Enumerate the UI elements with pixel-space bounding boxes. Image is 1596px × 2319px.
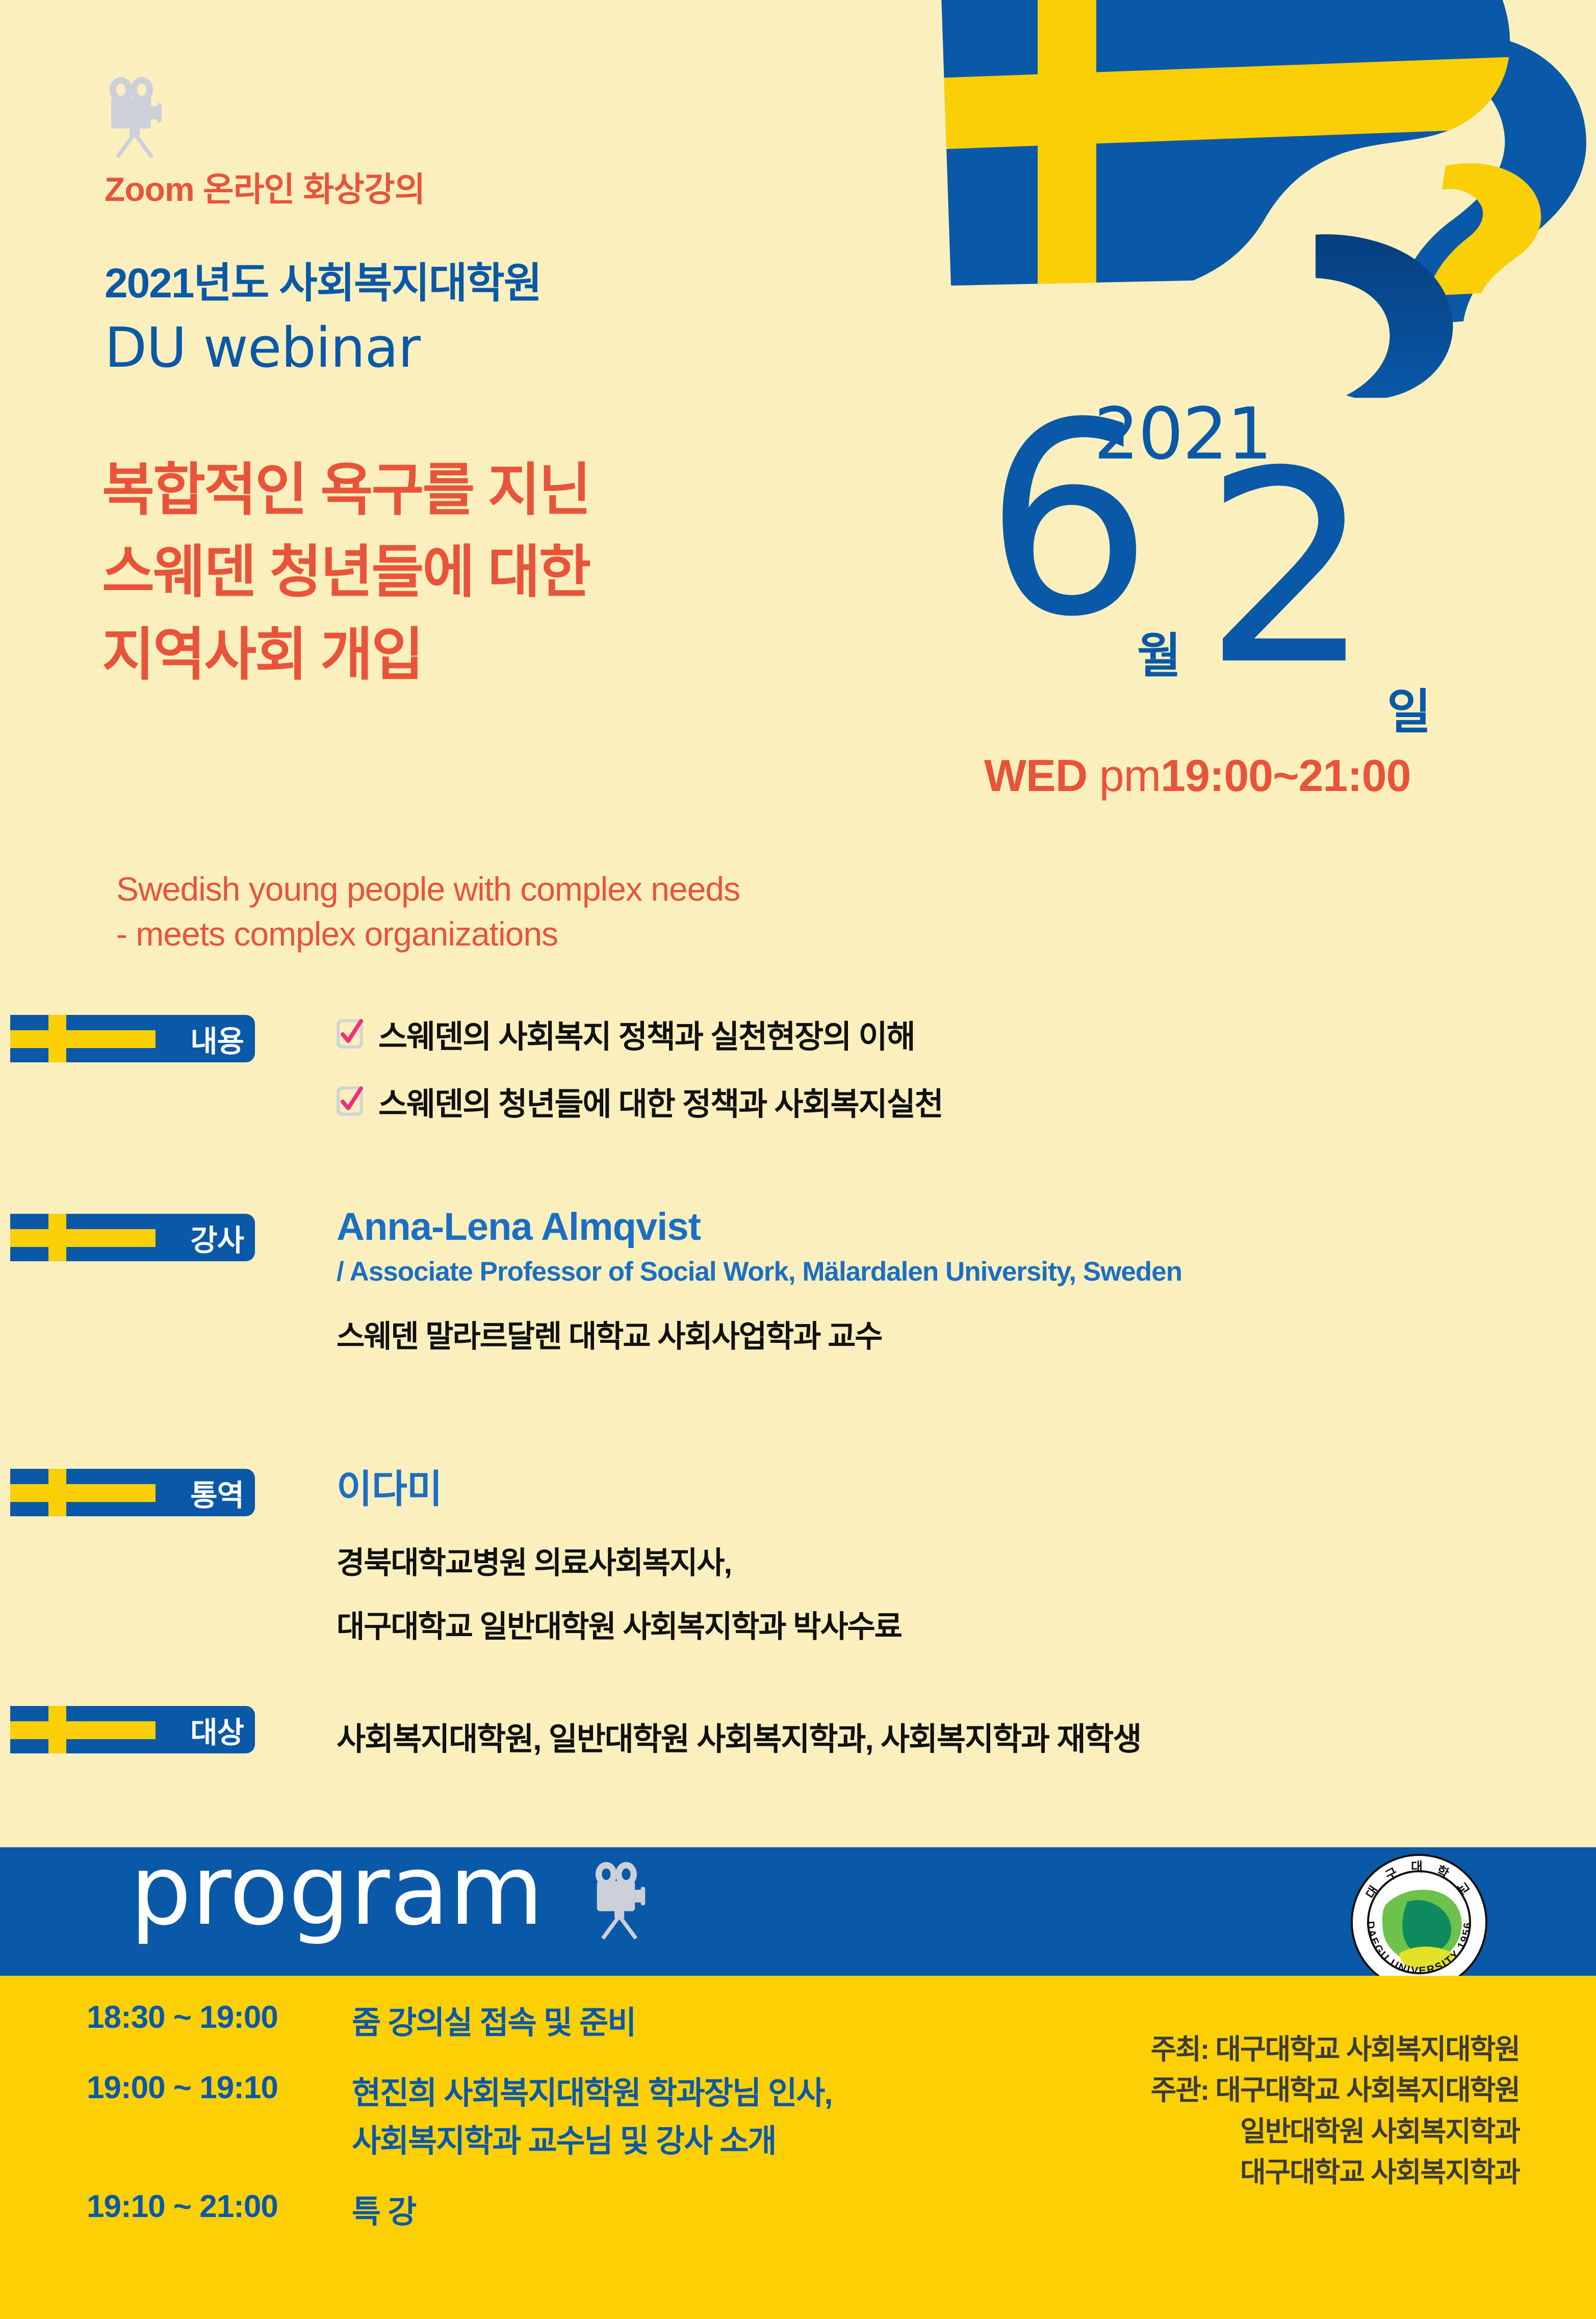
section-label: 대상 bbox=[190, 1709, 244, 1751]
event-date-block: 6 2021 월 2 일 WED pm19:00~21:00 bbox=[984, 393, 1576, 821]
list-item-label: 스웨덴의 사회복지 정책과 실천현장의 이해 bbox=[378, 1011, 915, 1057]
movie-camera-icon bbox=[108, 77, 164, 158]
section-label: 내용 bbox=[190, 1017, 244, 1060]
table-row: 19:10 ~ 21:00 특 강 bbox=[87, 2188, 1056, 2236]
schedule-time: 19:00 ~ 19:10 bbox=[87, 2070, 352, 2106]
date-weekday: WED bbox=[984, 750, 1087, 801]
date-time-line: WED pm19:00~21:00 bbox=[984, 750, 1576, 802]
date-time-prefix: pm bbox=[1099, 750, 1161, 801]
title-line-1: 복합적인 욕구를 지닌 bbox=[102, 449, 928, 531]
schedule-description-line: 현진희 사회복지대학원 학과장님 인사, bbox=[352, 2070, 832, 2118]
host-line: 일반대학원 사회복지학과 bbox=[1010, 2111, 1520, 2152]
host-line: 주최: 대구대학교 사회복지대학원 bbox=[1010, 2029, 1520, 2070]
badge-flag-stripe-horizontal bbox=[10, 1484, 156, 1502]
schedule-description-line: 사회복지학과 교수님 및 강사 소개 bbox=[352, 2118, 832, 2165]
flag-ribbon-yellow bbox=[1427, 163, 1541, 296]
section-badge-speaker: 강사 bbox=[10, 1214, 255, 1261]
schedule-description: 줌 강의실 접속 및 준비 bbox=[352, 1999, 635, 2047]
table-row: 18:30 ~ 19:00 줌 강의실 접속 및 준비 bbox=[87, 1999, 1056, 2047]
date-time-range: 19:00~21:00 bbox=[1161, 750, 1411, 801]
speaker-affiliation: / Associate Professor of Social Work, Mä… bbox=[337, 1256, 1182, 1287]
audience-text: 사회복지대학원, 일반대학원 사회복지학과, 사회복지학과 재학생 bbox=[337, 1713, 1141, 1759]
date-month-unit: 월 bbox=[1137, 617, 1181, 686]
date-day-unit: 일 bbox=[1387, 673, 1431, 743]
title-line-2: 스웨덴 청년들에 대한 bbox=[102, 531, 928, 613]
section-badge-interpreter: 통역 bbox=[10, 1469, 255, 1516]
page-title: 복합적인 욕구를 지닌 스웨덴 청년들에 대한 지역사회 개입 bbox=[102, 449, 928, 696]
poster-root: Zoom 온라인 화상강의 2021년도 사회복지대학원 DU webinar … bbox=[0, 0, 1596, 2319]
subtitle-line-2: - meets complex organizations bbox=[116, 912, 1034, 957]
interpreter-name: 이다미 bbox=[337, 1458, 902, 1514]
flag-ribbon-back bbox=[1392, 36, 1586, 326]
schedule-description-line: 특 강 bbox=[352, 2188, 416, 2236]
brand-title: DU webinar bbox=[105, 316, 420, 380]
schedule-description: 현진희 사회복지대학원 학과장님 인사, 사회복지학과 교수님 및 강사 소개 bbox=[352, 2070, 832, 2165]
program-heading: program bbox=[130, 1842, 544, 1939]
checkbox-checked-icon bbox=[337, 1019, 363, 1049]
section-badge-content: 내용 bbox=[10, 1015, 255, 1062]
movie-camera-icon bbox=[594, 1862, 648, 1941]
checkbox-checked-icon bbox=[337, 1086, 363, 1116]
list-item-label: 스웨덴의 청년들에 대한 정책과 사회복지실천 bbox=[378, 1078, 943, 1124]
table-row: 19:00 ~ 19:10 현진희 사회복지대학원 학과장님 인사, 사회복지학… bbox=[87, 2070, 1056, 2165]
subtitle-english: Swedish young people with complex needs … bbox=[116, 867, 1034, 957]
badge-flag-stripe-vertical bbox=[48, 1469, 66, 1516]
host-line: 대구대학교 사회복지학과 bbox=[1010, 2152, 1520, 2193]
eyebrow-label: Zoom 온라인 화상강의 bbox=[105, 162, 425, 211]
schedule-description-line: 줌 강의실 접속 및 준비 bbox=[352, 1999, 635, 2047]
speaker-name: Anna-Lena Almqvist bbox=[337, 1205, 1182, 1249]
host-line: 주관: 대구대학교 사회복지대학원 bbox=[1010, 2070, 1520, 2110]
flag-blue-field bbox=[908, 0, 1545, 316]
section-label: 강사 bbox=[190, 1216, 244, 1259]
swedish-flag-graphic bbox=[806, 0, 1596, 398]
badge-flag-stripe-horizontal bbox=[10, 1721, 156, 1739]
date-day-number: 2 bbox=[1203, 436, 1372, 701]
program-schedule-table: 18:30 ~ 19:00 줌 강의실 접속 및 준비 19:00 ~ 19:1… bbox=[87, 1999, 1056, 2259]
list-item: 스웨덴의 청년들에 대한 정책과 사회복지실천 bbox=[337, 1078, 943, 1124]
host-organizer-block: 주최: 대구대학교 사회복지대학원 주관: 대구대학교 사회복지대학원 일반대학… bbox=[1010, 2029, 1520, 2193]
badge-flag-stripe-horizontal bbox=[10, 1030, 156, 1048]
schedule-description: 특 강 bbox=[352, 2188, 416, 2236]
flag-cross-horizontal bbox=[908, 56, 1535, 150]
section-body-content: 스웨덴의 사회복지 정책과 실천현장의 이해 스웨덴의 청년들에 대한 정책과 … bbox=[337, 1011, 943, 1145]
list-item: 스웨덴의 사회복지 정책과 실천현장의 이해 bbox=[337, 1011, 943, 1057]
interpreter-detail-1: 경북대학교병원 의료사회복지사, bbox=[337, 1538, 902, 1583]
section-badge-audience: 대상 bbox=[10, 1706, 255, 1753]
badge-flag-stripe-vertical bbox=[48, 1706, 66, 1753]
section-label: 통역 bbox=[190, 1471, 244, 1514]
daegu-university-seal-logo: 대 구 대 학 교 DAEGU UNIVERSITY 1956 bbox=[1350, 1853, 1488, 1991]
section-body-speaker: Anna-Lena Almqvist / Associate Professor… bbox=[337, 1205, 1182, 1356]
flag-cross-vertical bbox=[1038, 0, 1096, 316]
section-body-interpreter: 이다미 경북대학교병원 의료사회복지사, 대구대학교 일반대학원 사회복지학과 … bbox=[337, 1458, 902, 1646]
subtitle-line-1: Swedish young people with complex needs bbox=[116, 867, 1034, 912]
section-body-audience: 사회복지대학원, 일반대학원 사회복지학과, 사회복지학과 재학생 bbox=[337, 1713, 1141, 1759]
speaker-description: 스웨덴 말라르달렌 대학교 사회사업학과 교수 bbox=[337, 1312, 1182, 1356]
badge-flag-stripe-vertical bbox=[48, 1214, 66, 1261]
schedule-time: 18:30 ~ 19:00 bbox=[87, 1999, 352, 2035]
page-kicker: 2021년도 사회복지대학원 bbox=[105, 249, 541, 310]
title-line-3: 지역사회 개입 bbox=[102, 614, 928, 696]
schedule-time: 19:10 ~ 21:00 bbox=[87, 2188, 352, 2225]
badge-flag-stripe-horizontal bbox=[10, 1229, 156, 1247]
flag-tail bbox=[1316, 234, 1453, 398]
interpreter-detail-2: 대구대학교 일반대학원 사회복지학과 박사수료 bbox=[337, 1602, 902, 1646]
badge-flag-stripe-vertical bbox=[48, 1015, 66, 1062]
